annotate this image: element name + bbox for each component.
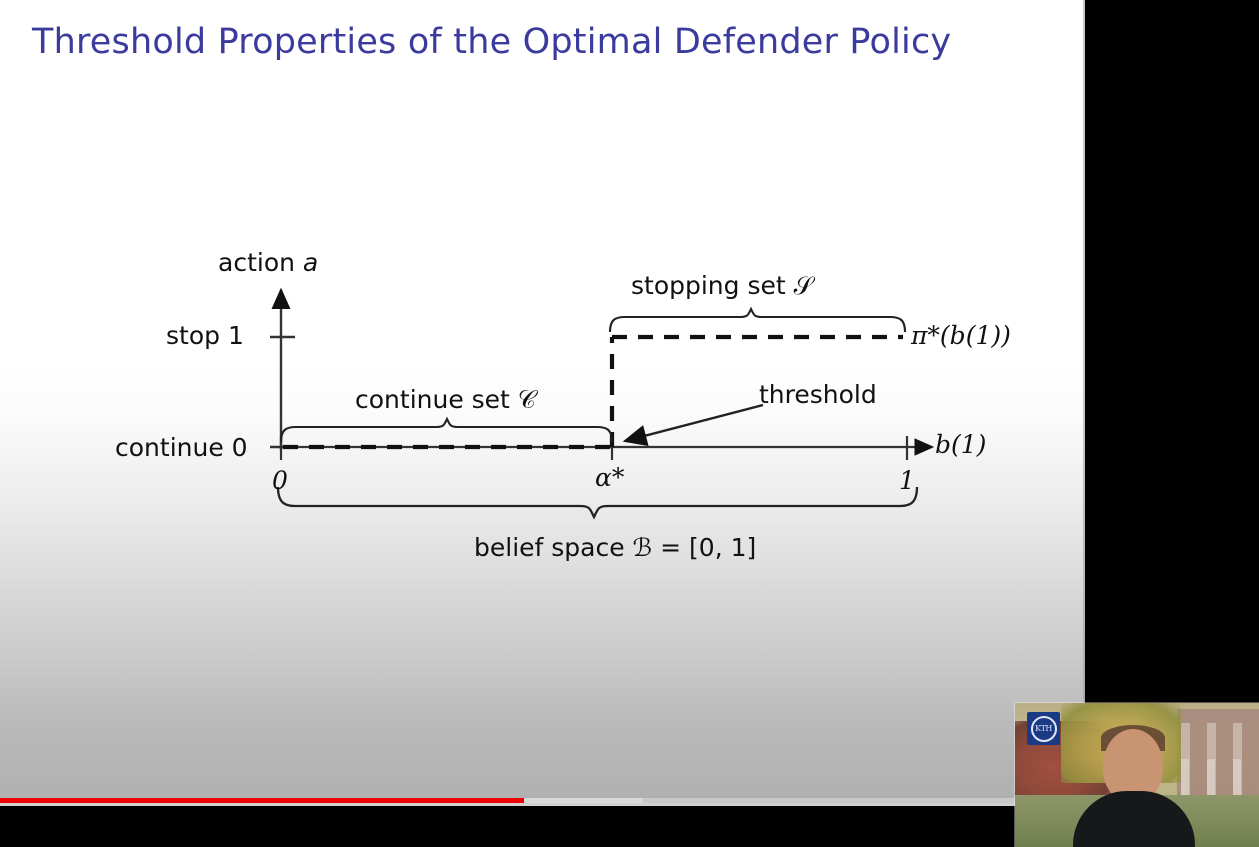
y-tick-label-continue: continue 0: [115, 433, 248, 462]
video-progress-bar[interactable]: [0, 798, 1085, 803]
threshold-annotation-label: threshold: [759, 380, 877, 409]
y-tick-label-stop: stop 1: [166, 321, 244, 350]
belief-space-label: belief space ℬ = [0, 1]: [474, 533, 756, 562]
logo-seal-text: KTH: [1031, 716, 1057, 742]
x-tick-label-alpha: α*: [595, 463, 624, 492]
x-axis-label: b(1): [935, 430, 986, 459]
diagram-svg: [0, 0, 1085, 620]
x-tick-label-one: 1: [899, 466, 915, 495]
slide-right-edge: [1083, 0, 1085, 800]
university-logo-icon: KTH: [1027, 712, 1060, 745]
progress-track-base: [0, 803, 1085, 806]
y-axis: [270, 290, 295, 450]
threshold-arrow: [625, 405, 763, 441]
presenter-webcam[interactable]: KTH: [1015, 703, 1259, 847]
stopping-set-label: stopping set 𝒮: [631, 271, 813, 301]
presentation-slide: Threshold Properties of the Optimal Defe…: [0, 0, 1085, 800]
video-player[interactable]: Threshold Properties of the Optimal Defe…: [0, 0, 1259, 847]
continue-set-label: continue set 𝒞: [355, 385, 536, 415]
webcam-background-building: [1177, 709, 1259, 795]
policy-label: π*(b(1)): [911, 321, 1011, 350]
stopping-set-brace: [610, 309, 905, 332]
x-tick-label-zero: 0: [272, 466, 288, 495]
progress-played: [0, 798, 524, 803]
threshold-policy-diagram: action a stop 1 continue 0 0 α* 1 contin…: [0, 0, 1085, 620]
continue-set-brace: [281, 419, 612, 442]
y-axis-label: action a: [218, 248, 318, 277]
